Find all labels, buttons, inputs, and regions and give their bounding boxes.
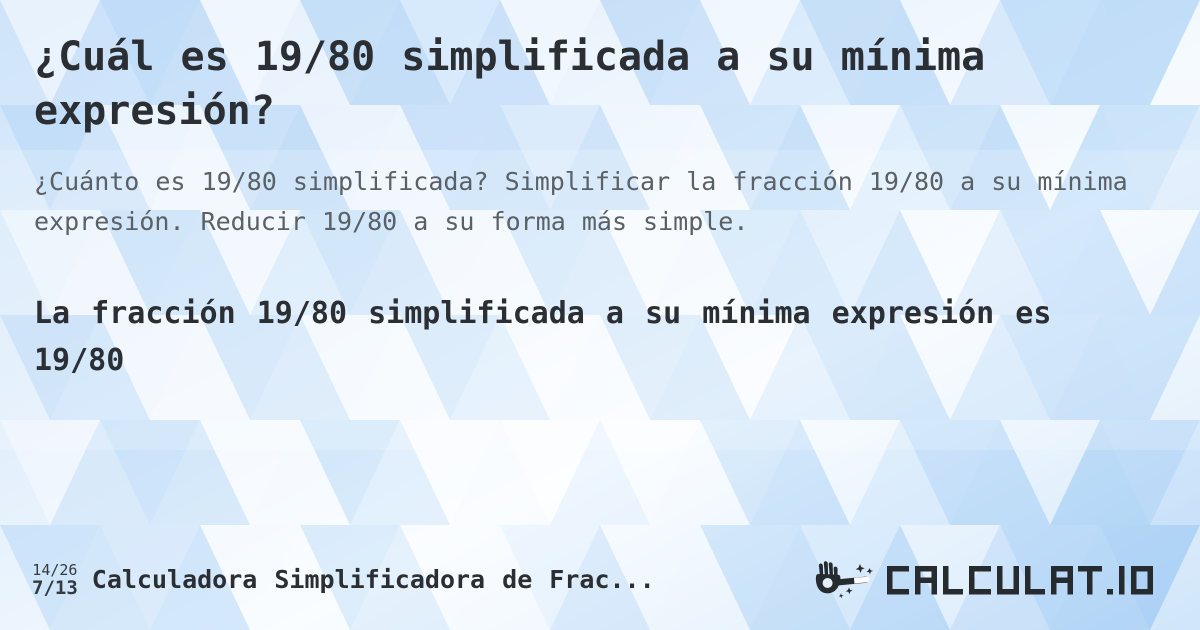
calculatio-wordmark: CALCULAT.IO [884,560,1174,600]
page-title: ¿Cuál es 19/80 simplificada a su mínima … [34,30,1034,138]
hand-magic-wand-icon [814,559,878,601]
share-card: ¿Cuál es 19/80 simplificada a su mínima … [0,0,1200,630]
footer-left-group: 14/26 7/13 Calculadora Simplificadora de… [32,562,796,599]
site-title: Calculadora Simplificadora de Frac... [92,565,655,594]
answer-statement: La fracción 19/80 simplificada a su míni… [34,290,1094,384]
page-description: ¿Cuánto es 19/80 simplificada? Simplific… [34,162,1144,242]
fraction-simplified: 7/13 [32,578,78,599]
brand-logo[interactable]: CALCULAT.IO [814,559,1174,601]
card-content: ¿Cuál es 19/80 simplificada a su mínima … [0,0,1200,630]
card-footer: 14/26 7/13 Calculadora Simplificadora de… [0,556,1200,604]
fraction-original: 14/26 [32,562,77,578]
fraction-simplify-icon: 14/26 7/13 [32,562,78,599]
